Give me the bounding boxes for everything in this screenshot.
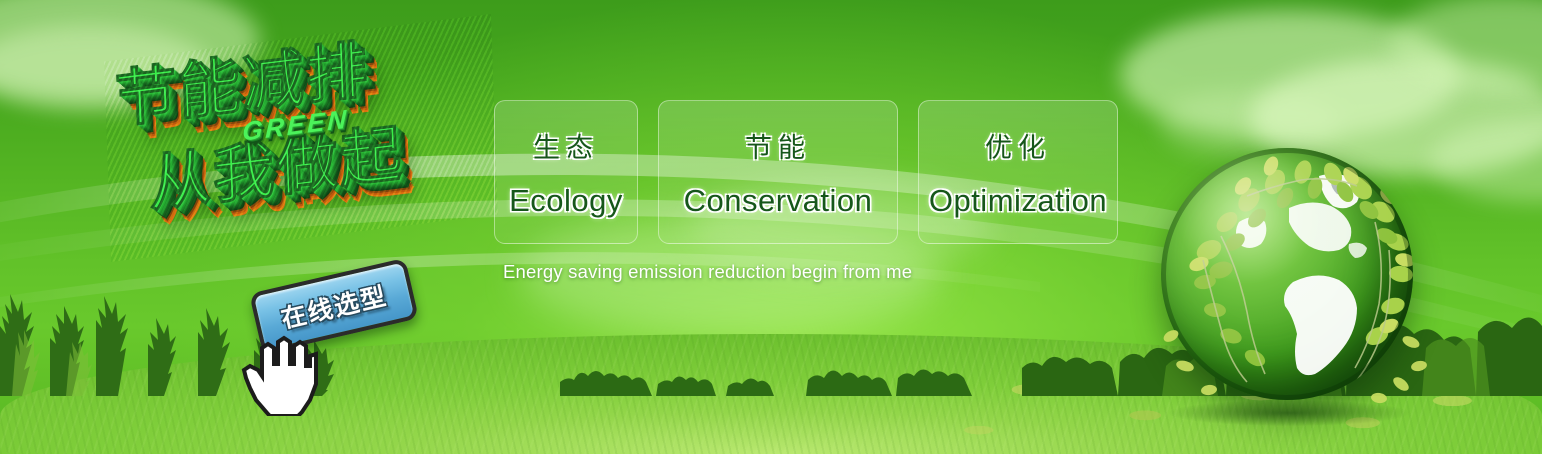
feature-card-title-en: Ecology [509, 183, 623, 219]
globe-drop-shadow [1169, 400, 1409, 426]
feature-card-title-en: Optimization [929, 183, 1107, 219]
leafy-earth-globe [1143, 130, 1433, 420]
feature-card-optimization[interactable]: 优化 Optimization [918, 100, 1118, 244]
feature-card-conservation[interactable]: 节能 Conservation [658, 100, 898, 244]
headline-3d: 节能减排 GREEN 从我做起 [96, 34, 496, 274]
feature-card-title-cn: 节能 [745, 126, 811, 165]
cloud-icon [1120, 10, 1460, 140]
feature-card-ecology[interactable]: 生态 Ecology [494, 100, 638, 244]
cloud-icon [1390, 0, 1542, 91]
feature-card-title-en: Conservation [684, 183, 873, 219]
feature-card-list: 生态 Ecology 节能 Conservation 优化 Optimizati… [494, 100, 1118, 244]
feature-card-title-cn: 优化 [985, 126, 1051, 165]
online-selection-button-label: 在线选型 [277, 276, 390, 335]
globe-overlay [1143, 130, 1433, 420]
green-energy-banner: 节能减排 GREEN 从我做起 在线选型 生态 Ecology 节能 Conse… [0, 0, 1542, 454]
cloud-icon [1430, 120, 1542, 202]
feature-card-title-cn: 生态 [533, 126, 599, 165]
banner-tagline: Energy saving emission reduction begin f… [503, 261, 912, 283]
